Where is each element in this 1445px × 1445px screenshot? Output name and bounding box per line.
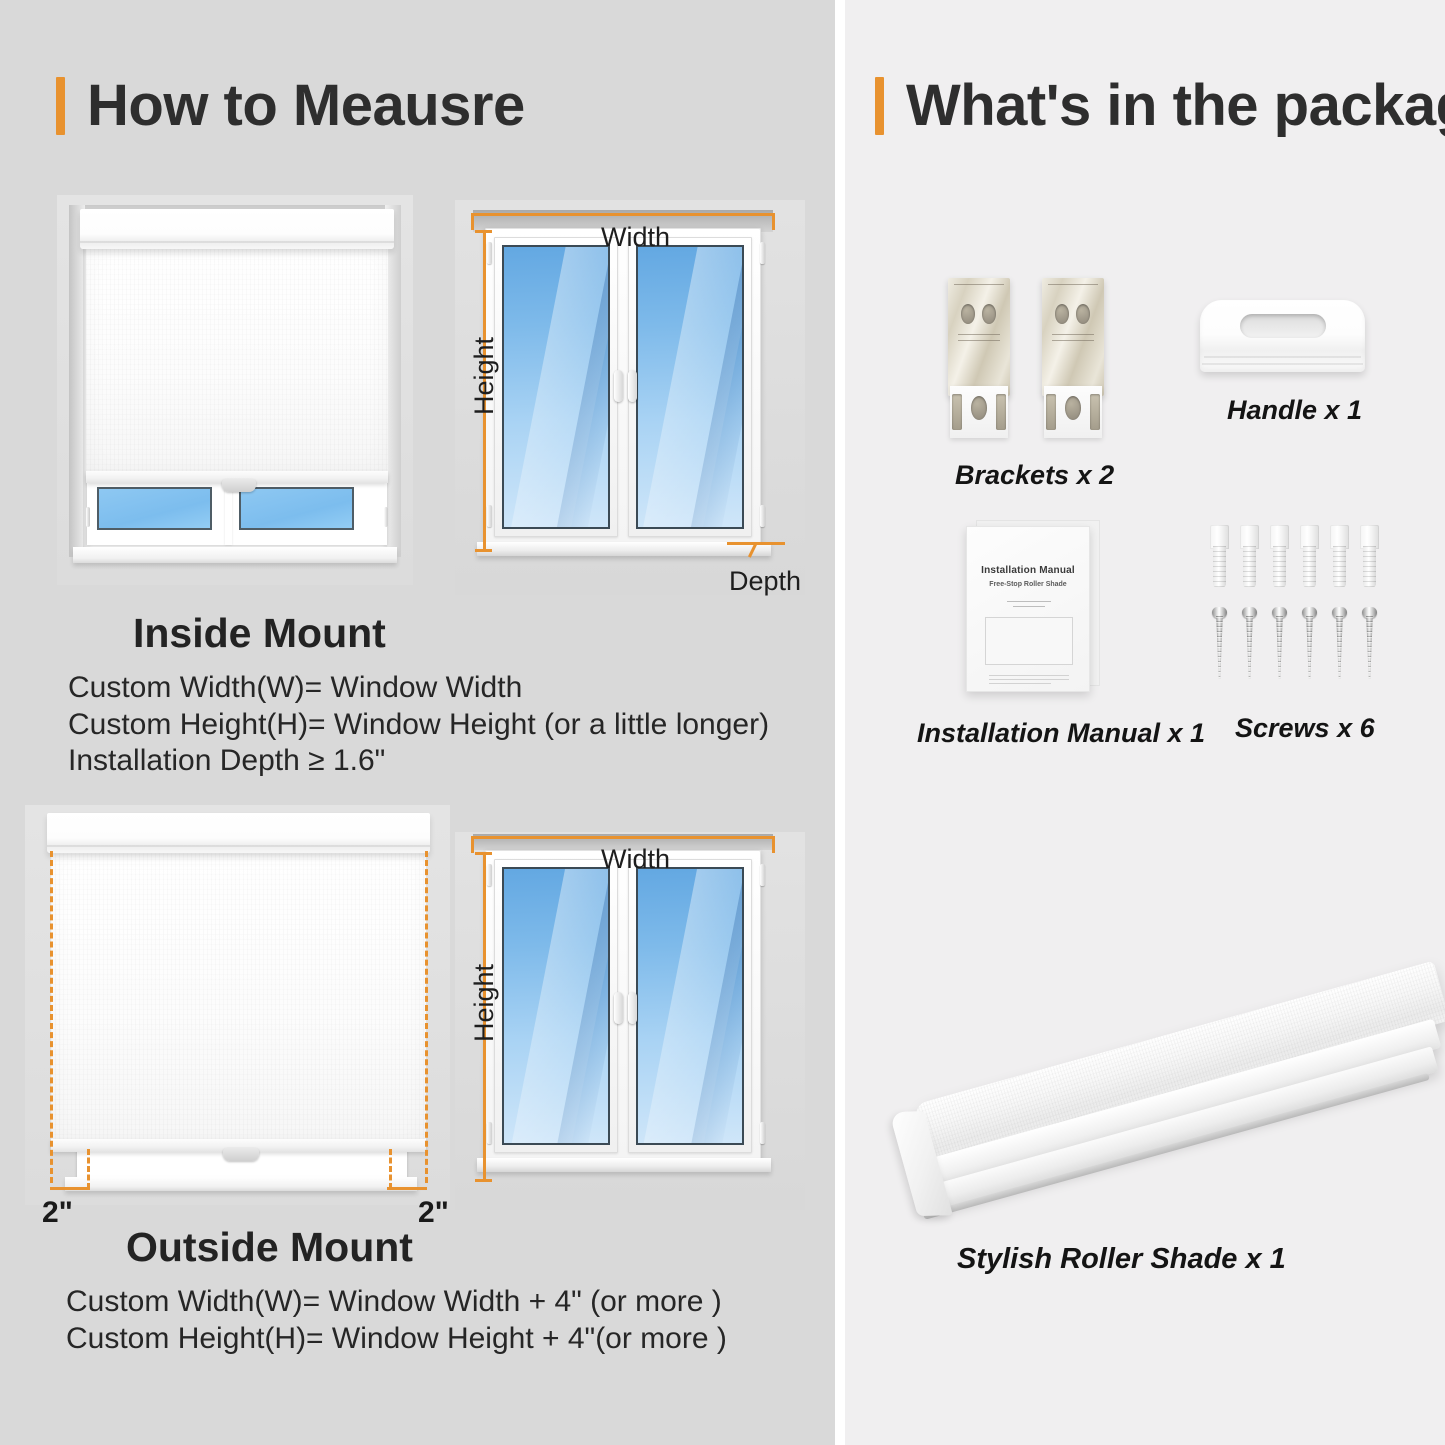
roller-shade-label: Stylish Roller Shade x 1 bbox=[957, 1243, 1286, 1276]
brackets-icon bbox=[940, 278, 1125, 458]
inside-mount-spec-list: Custom Width(W)= Window Width Custom Hei… bbox=[68, 670, 769, 780]
outside-overhang-right-label: 2" bbox=[418, 1196, 449, 1230]
outside-mount-spec-list: Custom Width(W)= Window Width + 4" (or m… bbox=[66, 1284, 727, 1357]
infographic-page: How to Meausre bbox=[0, 0, 1445, 1445]
how-to-measure-heading: How to Meausre bbox=[56, 72, 525, 139]
outside-mount-spec-line: Custom Width(W)= Window Width + 4" (or m… bbox=[66, 1284, 727, 1321]
handle-label: Handle x 1 bbox=[1227, 395, 1362, 426]
height-dimension-label: Height bbox=[469, 964, 500, 1042]
screws-icon bbox=[1210, 525, 1385, 690]
height-dimension-label: Height bbox=[469, 337, 500, 415]
package-contents-panel: What's in the package bbox=[845, 0, 1445, 1445]
outside-mount-title: Outside Mount bbox=[126, 1224, 413, 1271]
depth-dimension-label: Depth bbox=[729, 566, 801, 597]
inside-mount-window-diagram: Width Height Depth bbox=[455, 200, 805, 595]
manual-label: Installation Manual x 1 bbox=[917, 718, 1205, 749]
brackets-label: Brackets x 2 bbox=[955, 460, 1114, 491]
inside-mount-shade-illustration bbox=[57, 195, 413, 585]
outside-mount-window-diagram: Width Height bbox=[455, 832, 805, 1210]
handle-icon bbox=[1200, 300, 1365, 382]
package-heading: What's in the package bbox=[875, 72, 1445, 139]
manual-icon: Installation Manual Free-Stop Roller Sha… bbox=[960, 520, 1105, 695]
inside-mount-spec-line: Custom Width(W)= Window Width bbox=[68, 670, 769, 707]
panel-divider bbox=[835, 0, 845, 1445]
outside-mount-shade-illustration bbox=[25, 805, 450, 1205]
outside-mount-spec-line: Custom Height(H)= Window Height + 4"(or … bbox=[66, 1321, 727, 1358]
screws-label: Screws x 6 bbox=[1235, 713, 1375, 744]
inside-mount-spec-line: Custom Height(H)= Window Height (or a li… bbox=[68, 707, 769, 744]
accent-bar-icon bbox=[56, 77, 65, 135]
package-title: What's in the package bbox=[906, 72, 1445, 139]
manual-cover-title: Installation Manual bbox=[967, 565, 1089, 576]
inside-mount-title: Inside Mount bbox=[133, 610, 386, 657]
width-dimension-label: Width bbox=[601, 222, 670, 253]
width-dimension-label: Width bbox=[601, 844, 670, 875]
how-to-measure-panel: How to Meausre bbox=[0, 0, 835, 1445]
accent-bar-icon bbox=[875, 77, 884, 135]
inside-mount-spec-line: Installation Depth ≥ 1.6" bbox=[68, 743, 769, 780]
roller-shade-icon bbox=[855, 880, 1445, 1210]
manual-cover-subtitle: Free-Stop Roller Shade bbox=[967, 581, 1089, 588]
outside-overhang-left-label: 2" bbox=[42, 1196, 73, 1230]
how-to-measure-title: How to Meausre bbox=[87, 72, 525, 139]
